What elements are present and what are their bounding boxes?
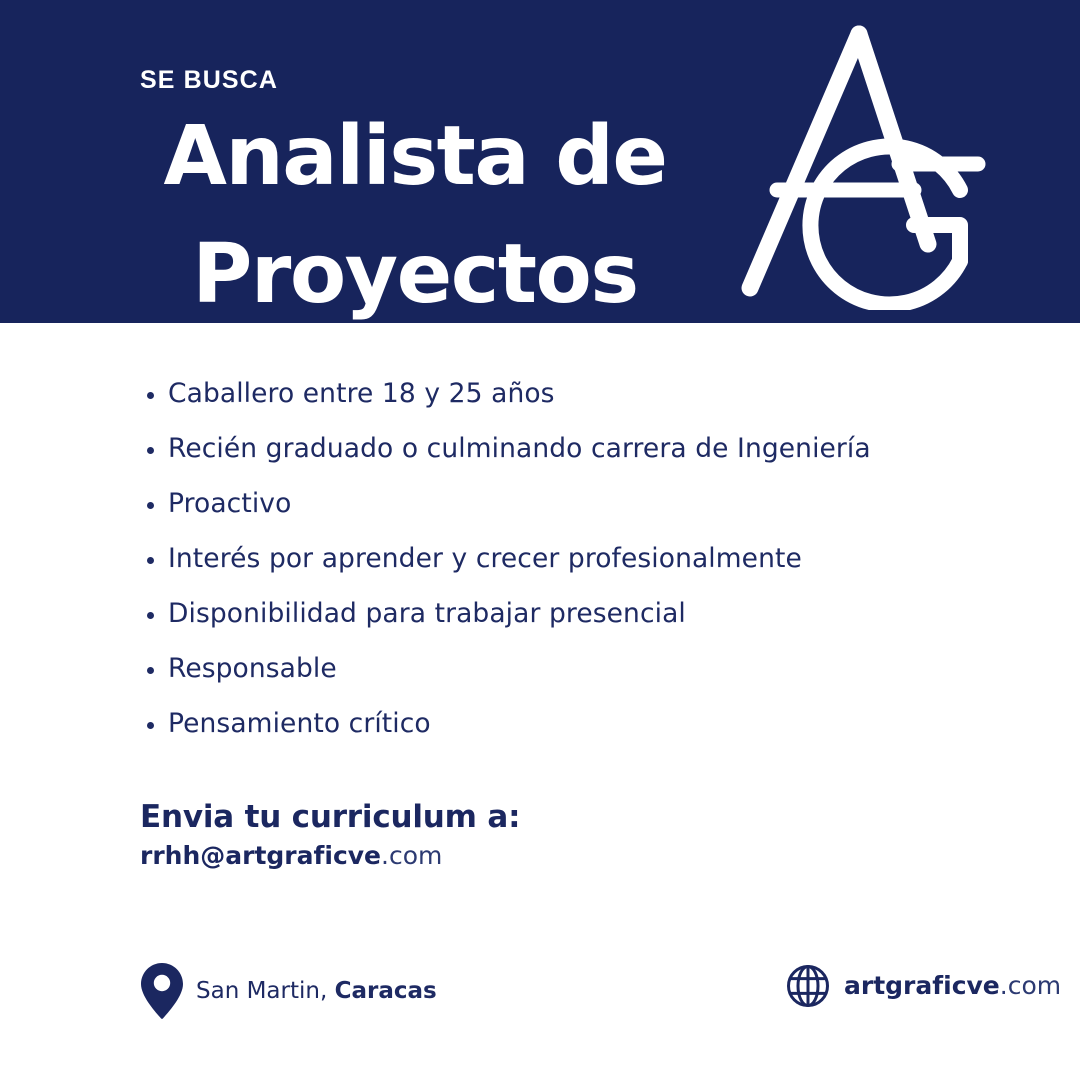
- location-city: Caracas: [335, 978, 437, 1004]
- cta-heading: Envia tu curriculum a:: [140, 798, 740, 836]
- list-item: Disponibilidad para trabajar presencial: [140, 595, 1000, 650]
- list-item: Interés por aprender y crecer profesiona…: [140, 540, 1000, 595]
- footer-location: San Martin, Caracas: [140, 962, 437, 1020]
- page-title: Analista de Proyectos: [60, 98, 770, 323]
- cta-block: Envia tu curriculum a: rrhh@artgraficve.…: [140, 798, 740, 872]
- list-item: Proactivo: [140, 485, 1000, 540]
- website-domain: artgraficve: [844, 971, 1000, 1000]
- contact-email-address: rrhh@artgraficve: [140, 841, 381, 870]
- website-text: artgraficve.com: [844, 970, 1061, 1002]
- list-item: Pensamiento crítico: [140, 705, 1000, 760]
- job-posting-poster: SE BUSCA Analista de Proyectos: [0, 0, 1080, 1080]
- eyebrow-label: SE BUSCA: [140, 66, 278, 95]
- page-title-line-2: Proyectos: [60, 216, 770, 323]
- location-street: San Martin,: [196, 978, 327, 1004]
- footer-website[interactable]: artgraficve.com: [786, 964, 1061, 1008]
- ag-monogram-logo: [728, 18, 998, 310]
- list-item: Caballero entre 18 y 25 años: [140, 375, 1000, 430]
- contact-email-tld: .com: [381, 841, 442, 870]
- page-title-line-1: Analista de: [60, 98, 770, 216]
- website-tld: .com: [1000, 971, 1061, 1000]
- location-text: San Martin, Caracas: [196, 976, 437, 1006]
- list-item: Recién graduado o culminando carrera de …: [140, 430, 1000, 485]
- header-band: SE BUSCA Analista de Proyectos: [0, 0, 1080, 323]
- contact-email[interactable]: rrhh@artgraficve.com: [140, 840, 740, 872]
- globe-icon: [786, 964, 830, 1008]
- list-item: Responsable: [140, 650, 1000, 705]
- requirements-list: Caballero entre 18 y 25 años Recién grad…: [140, 375, 1000, 760]
- ag-monogram-icon: [728, 18, 998, 310]
- map-pin-icon: [140, 962, 184, 1020]
